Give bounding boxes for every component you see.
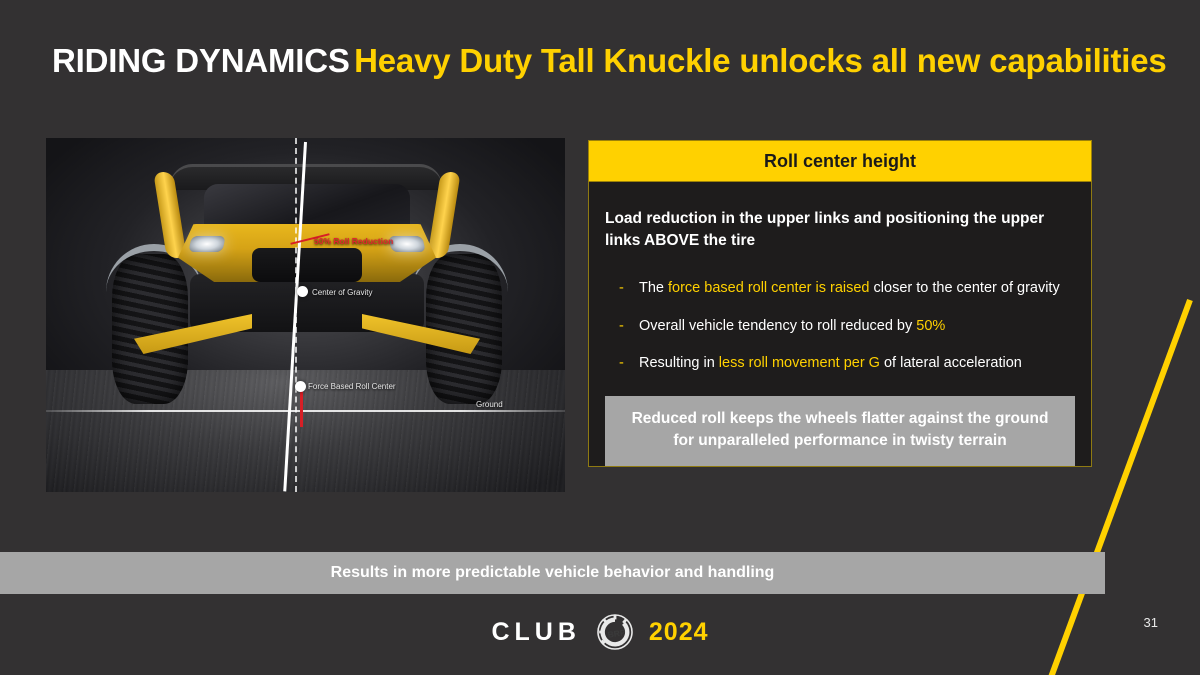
slide-root: RIDING DYNAMICS Heavy Duty Tall Knuckle … [0,0,1200,675]
list-item: - Resulting in less roll movement per G … [619,353,1071,374]
panel-body: Load reduction in the upper links and po… [588,182,1092,467]
footer-branding: CLUB BRP 2024 [0,612,1200,652]
list-item: - The force based roll center is raised … [619,278,1071,299]
year-label: 2024 [649,618,709,647]
bullet-text: Overall vehicle tendency to roll reduced… [639,316,1071,337]
right-headlight [388,236,425,252]
slide-title: RIDING DYNAMICS Heavy Duty Tall Knuckle … [52,42,1182,80]
bullet-text-highlight: force based roll center is raised [668,280,870,296]
bullet-text: The force based roll center is raised cl… [639,278,1071,299]
center-of-gravity-dot [297,286,308,297]
vehicle-figure-panel: 50% Roll Reduction Center of Gravity For… [46,138,565,492]
annotation-center-of-gravity: Center of Gravity [312,288,372,297]
summary-banner-text: Results in more predictable vehicle beha… [331,564,775,582]
bullet-text: Resulting in less roll movement per G of… [639,353,1071,374]
roll-center-info-panel: Roll center height Load reduction in the… [588,140,1092,467]
bullet-marker: - [619,353,639,374]
bullet-marker: - [619,278,639,299]
list-item: - Overall vehicle tendency to roll reduc… [619,316,1071,337]
bullet-text-pre: Resulting in [639,355,719,371]
bullet-text-highlight: less roll movement per G [719,355,880,371]
panel-callout-text: Reduced roll keeps the wheels flatter ag… [605,396,1075,466]
annotation-force-based-roll-center: Force Based Roll Center [308,382,396,391]
ground-reference-line [46,410,565,412]
benefit-bullet-list: - The force based roll center is raised … [605,278,1075,374]
bullet-text-post: of lateral acceleration [880,355,1022,371]
roll-center-dot [295,381,306,392]
front-grille [252,248,362,282]
title-primary-text: RIDING DYNAMICS [52,42,350,79]
left-headlight [188,236,225,252]
utv-vehicle-illustration [112,148,502,416]
brp-gear-logo-icon: BRP [595,612,635,652]
panel-header-title: Roll center height [588,140,1092,182]
bullet-text-pre: The [639,280,668,296]
bullet-text-post: closer to the center of gravity [870,280,1060,296]
bullet-text-pre: Overall vehicle tendency to roll reduced… [639,318,916,334]
bullet-marker: - [619,316,639,337]
title-secondary-text: Heavy Duty Tall Knuckle unlocks all new … [354,42,1166,79]
panel-lead-text: Load reduction in the upper links and po… [605,208,1075,252]
summary-banner: Results in more predictable vehicle beha… [0,552,1105,594]
annotation-roll-reduction: 50% Roll Reduction [314,236,393,246]
page-number: 31 [1144,615,1158,630]
bullet-text-highlight: 50% [916,318,945,334]
annotation-ground: Ground [476,400,503,409]
club-wordmark: CLUB [491,618,580,647]
